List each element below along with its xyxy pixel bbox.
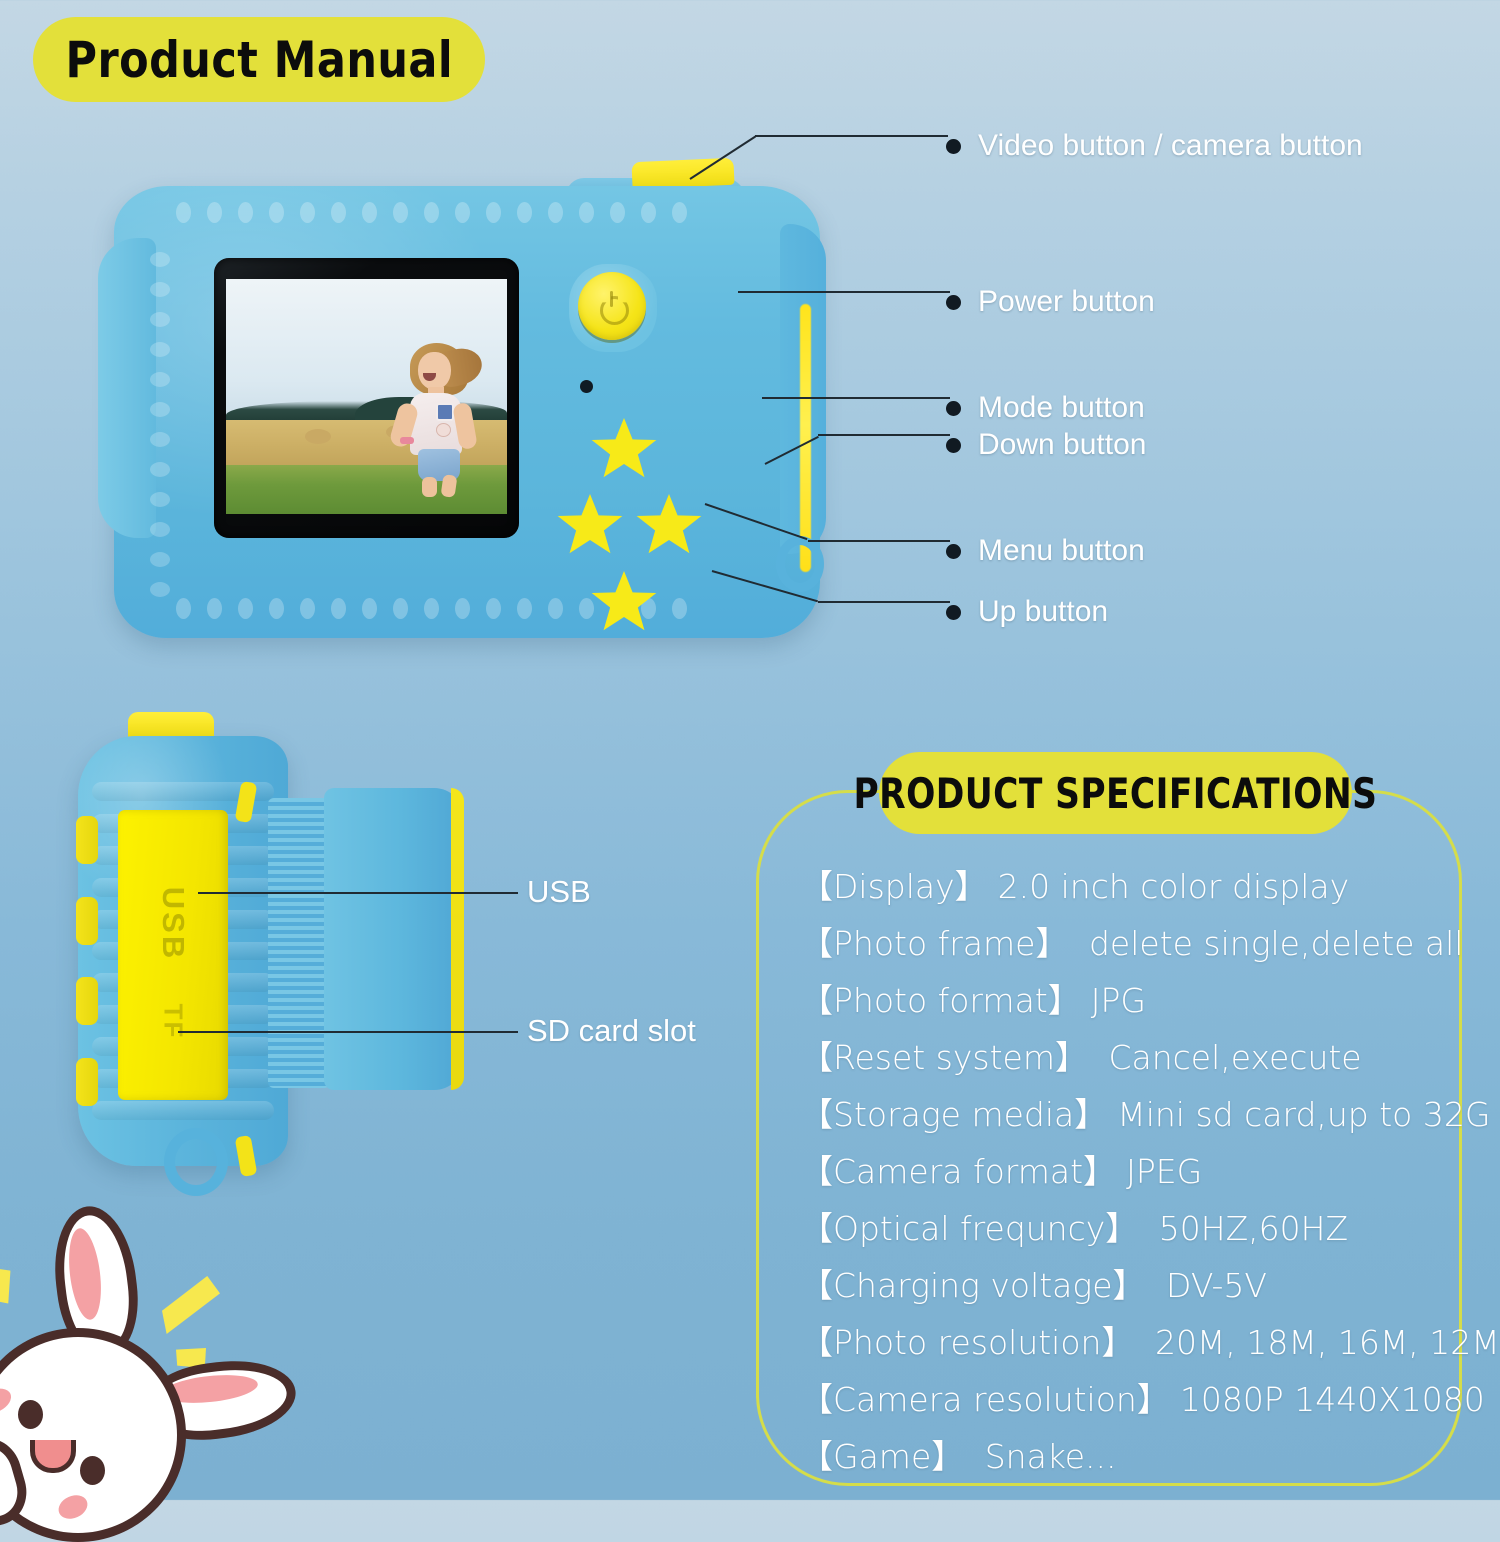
spec-key: 【Charging voltage】 [800,1266,1146,1305]
callout-label: Down button [978,428,1146,462]
spec-value: 20M, 18M, 16M, 12M [1144,1323,1499,1362]
spec-value: JPG [1091,981,1146,1020]
sparkle-icon [0,1267,14,1305]
camera-grip-left [98,238,156,538]
spec-value: delete single,delete all [1078,924,1463,963]
callout-usb: USB [527,874,591,910]
video-camera-button[interactable] [631,158,734,189]
page-title: Product Manual [33,17,485,102]
leader-mode [762,397,950,399]
spec-row: 【Display】2.0 inch color display [800,870,1460,903]
mode-button[interactable] [591,418,657,481]
side-strap-lug [164,1128,228,1196]
texture-dots-top [176,202,687,223]
callout-down-button: Down button [946,428,1146,462]
spec-value: 50HZ,60HZ [1148,1209,1348,1248]
camera-side-body: USB TF [78,736,288,1166]
lens-focus-ring [268,798,330,1088]
spec-value: Snake... [974,1437,1116,1476]
strap-lug [776,536,824,592]
spec-value: 2.0 inch color display [998,867,1350,906]
leader-usb [198,892,518,894]
spec-key: 【Camera resolution】 [800,1380,1170,1419]
leader-sd-card-slot [178,1031,518,1033]
spec-value: Cancel,execute [1098,1038,1362,1077]
leader-down [818,434,950,436]
camera-yellow-edge [800,304,811,572]
spec-row: 【Photo frame】 delete single,delete all [800,927,1460,960]
callout-video-camera-button: Video button / camera button [946,129,1363,163]
spec-key: 【Photo frame】 [800,924,1068,963]
down-button[interactable] [636,494,702,557]
port-cover[interactable]: USB TF [118,810,228,1100]
spec-row: 【Charging voltage】 DV-5V [800,1269,1460,1302]
specifications-list: 【Display】2.0 inch color display 【Photo f… [800,870,1460,1497]
callout-menu-button: Menu button [946,534,1145,568]
spec-key: 【Display】 [800,867,988,906]
spec-value: JPEG [1126,1152,1202,1191]
callout-dot [946,605,961,620]
bunny-head [0,1328,186,1542]
callout-dot [946,139,961,154]
side-accent-bottom [235,1135,258,1177]
callout-dot [946,401,961,416]
photo-girl [396,343,482,495]
callout-label: Video button / camera button [978,129,1363,163]
specifications-heading: PRODUCT SPECIFICATIONS [879,752,1352,834]
power-icon [597,291,627,321]
tf-port-label: TF [158,1004,189,1040]
spec-key: 【Photo resolution】 [800,1323,1134,1362]
specifications-heading-text: PRODUCT SPECIFICATIONS [854,769,1378,818]
spec-row: 【Photo resolution】 20M, 18M, 16M, 12M [800,1326,1460,1359]
spec-key: 【Game】 [800,1437,964,1476]
leader-up [818,601,950,603]
spec-row: 【Photo format】JPG [800,984,1460,1017]
callout-mode-button: Mode button [946,391,1145,425]
power-button-pad [569,264,657,352]
callout-up-button: Up button [946,595,1108,629]
spec-value: DV-5V [1156,1266,1267,1305]
led-indicator [580,380,593,393]
spec-row: 【Camera format】JPEG [800,1155,1460,1188]
spec-key: 【Camera format】 [800,1152,1116,1191]
callout-power-button: Power button [946,285,1155,319]
texture-dots-left [150,252,170,597]
spec-value: Mini sd card,up to 32G [1117,1095,1490,1134]
page-title-text: Product Manual [65,31,452,89]
power-button[interactable] [578,272,646,340]
usb-port-label: USB [155,887,191,961]
camera-back-view [96,158,836,653]
leader-power [738,291,950,293]
spec-key: 【Photo format】 [800,981,1081,1020]
side-yellow-tabs [76,816,98,1106]
leader-menu [808,540,950,542]
spec-row: 【Reset system】 Cancel,execute [800,1041,1460,1074]
manual-page: Product Manual [0,0,1500,1500]
menu-button[interactable] [557,494,623,557]
spec-value: 1080P 1440X1080 [1180,1380,1485,1419]
spec-row: 【Camera resolution】1080P 1440X1080 [800,1383,1460,1416]
lcd-bezel [214,258,519,538]
spec-row: 【Storage media】Mini sd card,up to 32G [800,1098,1460,1131]
sparkle-icon [162,1276,220,1334]
callout-dot [946,438,961,453]
bunny-eye-left [18,1400,43,1429]
callout-label: Menu button [978,534,1145,568]
callout-sd-card-slot: SD card slot [527,1013,696,1049]
callout-label: Up button [978,595,1108,629]
bunny-mascot [0,1242,300,1542]
spec-key: 【Reset system】 [800,1038,1088,1077]
lens-yellow-edge [451,788,464,1090]
callout-label: Mode button [978,391,1145,425]
spec-key: 【Storage media】 [800,1095,1107,1134]
lcd-screen [226,279,507,514]
spec-row: 【Game】 Snake... [800,1440,1460,1473]
lens-barrel [324,788,464,1090]
spec-row: 【Optical frequncy】 50HZ,60HZ [800,1212,1460,1245]
spec-key: 【Optical frequncy】 [800,1209,1138,1248]
callout-dot [946,295,961,310]
leader-video [755,135,948,137]
callout-label: Power button [978,285,1155,319]
callout-dot [946,544,961,559]
camera-side-view: USB TF [58,706,538,1206]
bunny-eye-right [80,1456,105,1485]
